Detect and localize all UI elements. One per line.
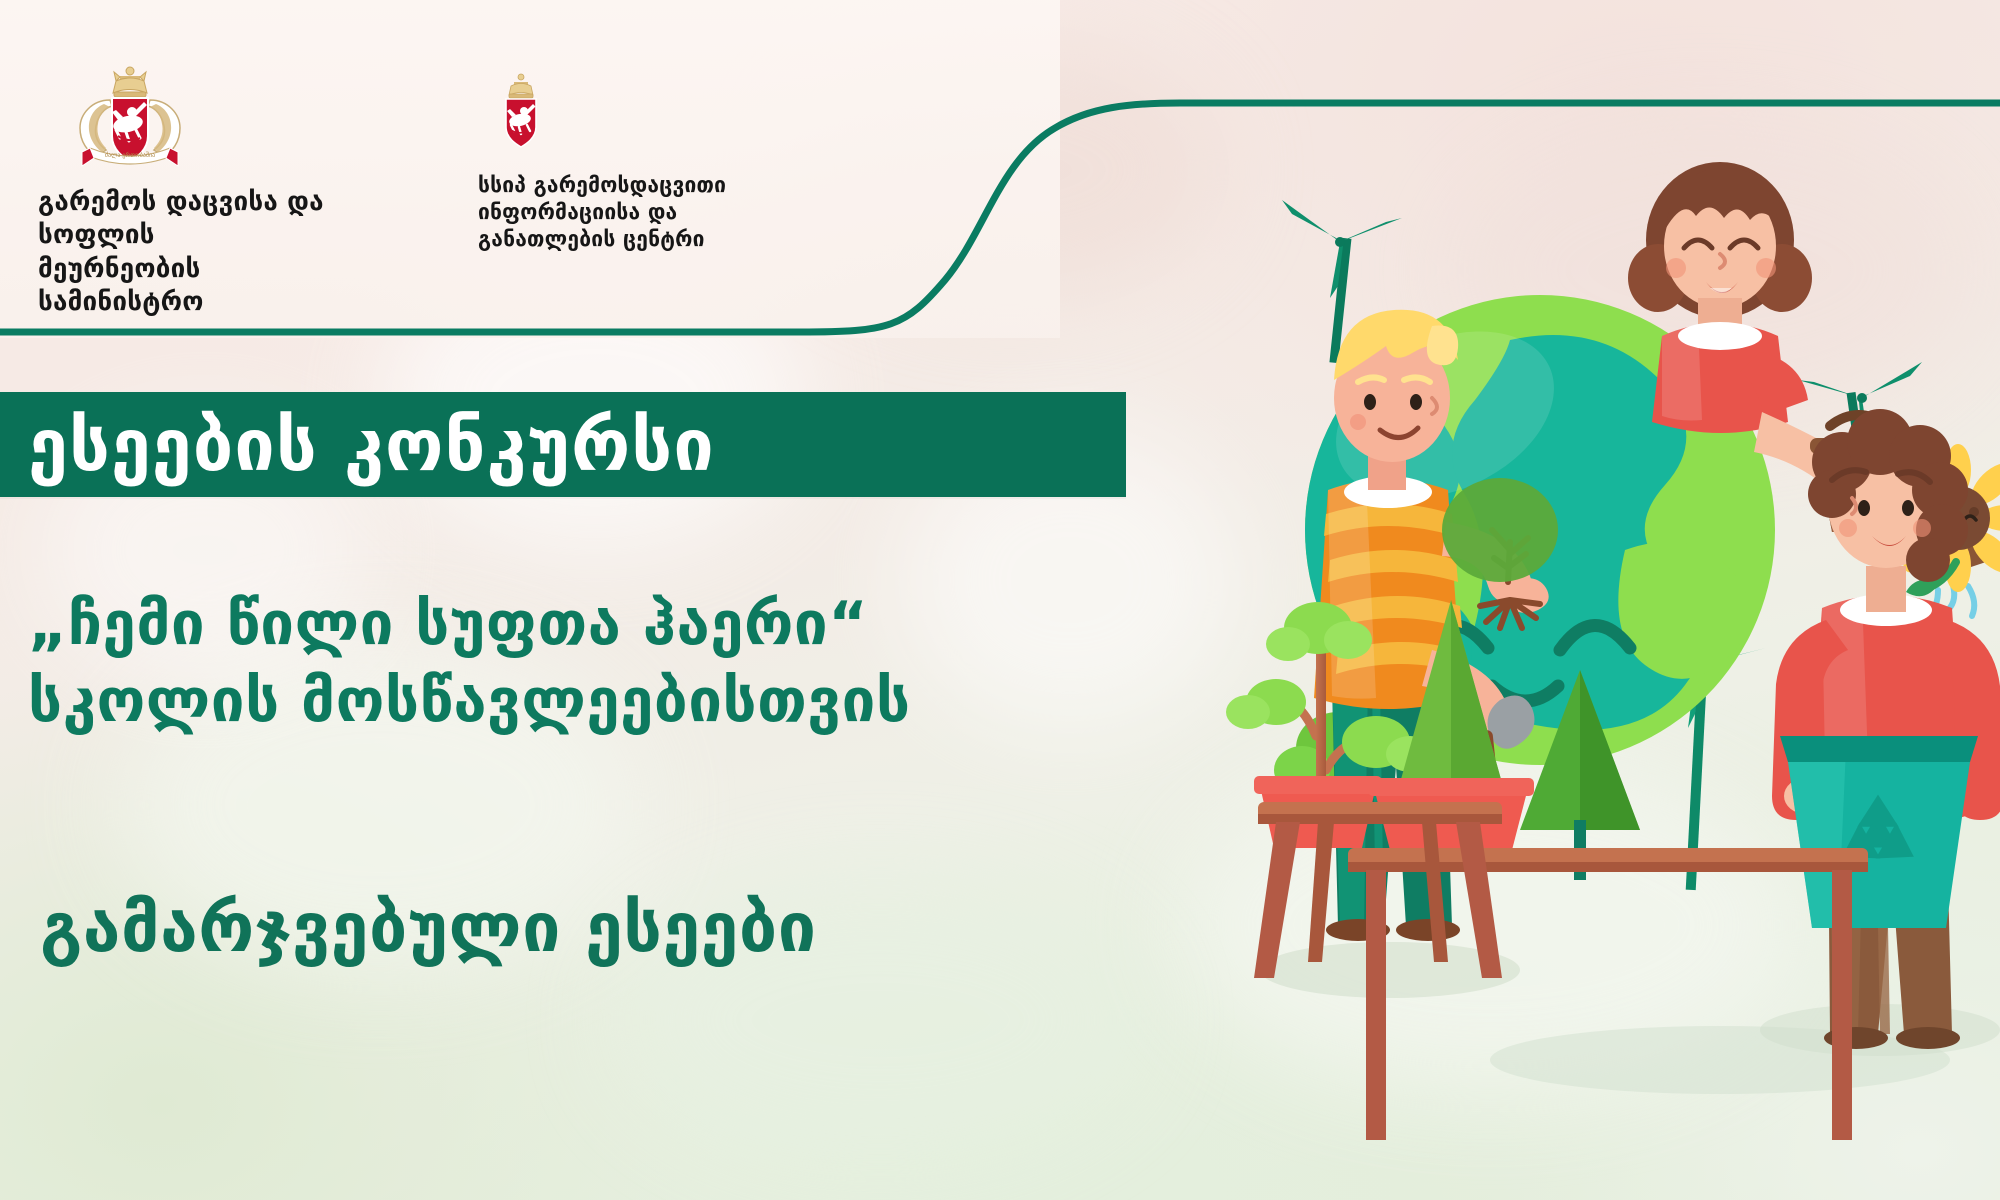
bottom-heading: გამარჯვებული ესეები [40,895,1240,963]
logo-ministry: ძალა ერთობაშია გარემოს დაცვისა და სოფლის… [38,62,358,319]
georgia-coat-of-arms-full-icon: ძალა ერთობაშია [68,62,192,172]
logo-center-line3: განათლების ცენტრი [478,226,705,253]
subtitle-block: „ჩემი წილი სუფთა ჰაერი“ სკოლის მოსწავლეე… [28,586,1258,740]
svg-text:ძალა ერთობაშია: ძალა ერთობაშია [105,152,155,159]
page-title: ესეების კონკურსი [28,409,715,481]
logo-center-line1: სსიპ გარემოსდაცვითი [478,172,726,199]
subtitle-line-1: „ჩემი წილი სუფთა ჰაერი“ [28,586,1258,663]
banner-stage: ძალა ერთობაშია გარემოს დაცვისა და სოფლის… [0,0,2000,1200]
georgia-coat-of-arms-shield-icon [492,70,550,152]
title-banner: ესეების კონკურსი [0,392,1126,497]
recycle-bin [1780,736,1978,928]
subtitle-line-2: სკოლის მოსწავლეებისთვის [28,663,1258,740]
logo-ministry-line2: მეურნეობის სამინისტრო [38,253,358,320]
logo-center-line2: ინფორმაციისა და [478,199,677,226]
logo-center: სსიპ გარემოსდაცვითი ინფორმაციისა და განა… [478,70,808,253]
illustration-children-and-earth [1080,130,2000,1160]
logo-ministry-line1: გარემოს დაცვისა და სოფლის [38,186,358,253]
